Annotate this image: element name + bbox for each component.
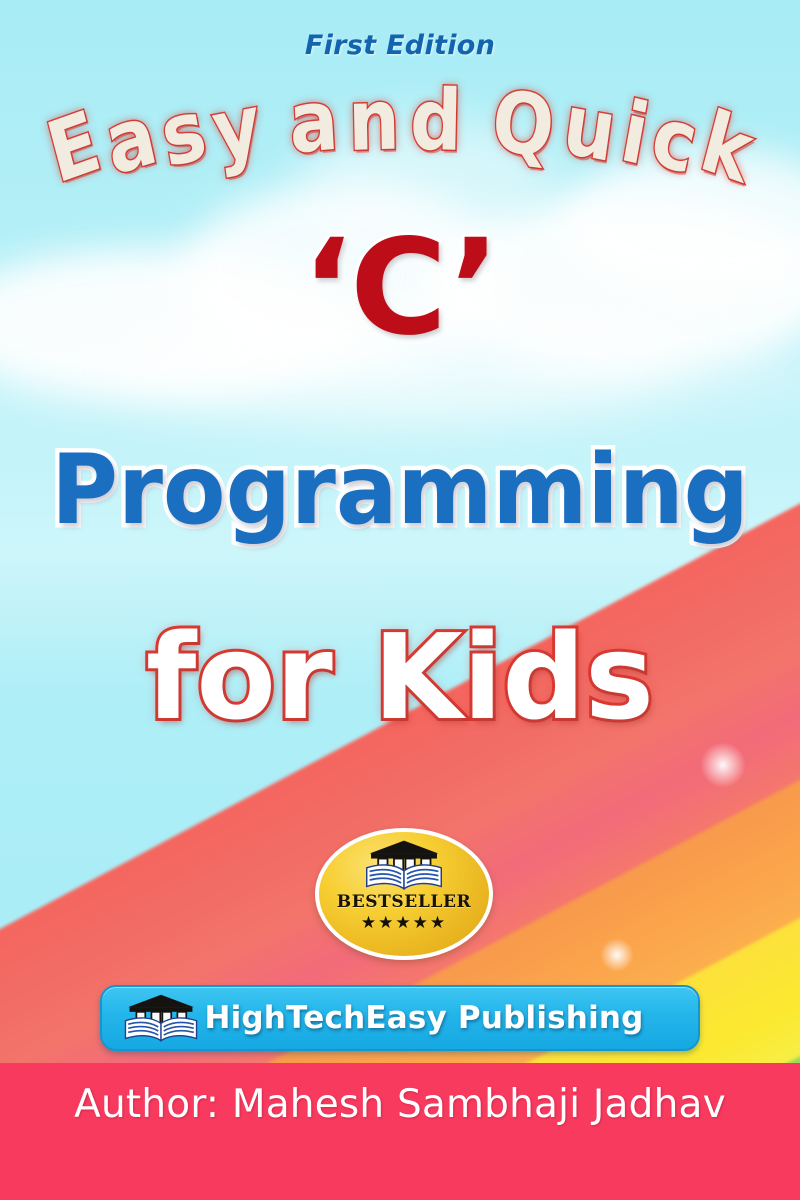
title-line-1-letter: a xyxy=(98,92,163,187)
badge-stars: ★★★★★ xyxy=(361,914,447,931)
badge-label: BESTSELLER xyxy=(337,892,471,912)
title-line-1-letter: Q xyxy=(489,78,558,170)
title-line-1-letter: d xyxy=(409,78,462,163)
title-line-1: Easy and Quick xyxy=(0,78,800,208)
book-cover: First Edition Easy and Quick ‘C’ Program… xyxy=(0,0,800,1200)
title-line-1-letter xyxy=(263,81,287,167)
title-line-1-text: Easy and Quick xyxy=(51,78,748,162)
title-line-1-letter xyxy=(467,79,487,164)
title-line-2: Programming xyxy=(20,440,780,541)
title-line-1-letter: k xyxy=(693,99,760,196)
sparkle-icon xyxy=(700,742,746,788)
title-line-1-letter: a xyxy=(287,78,341,166)
bestseller-badge: BESTSELLER ★★★★★ xyxy=(315,828,493,960)
temple-book-logo-icon xyxy=(120,992,202,1044)
temple-book-logo-icon xyxy=(361,839,447,891)
author-band: Author: Mahesh Sambhaji Jadhav xyxy=(0,1063,800,1200)
title-language: ‘C’ xyxy=(0,222,800,354)
sparkle-icon xyxy=(600,938,634,972)
title-line-3: for Kids xyxy=(8,616,792,740)
title-line-1-letter: n xyxy=(347,78,400,163)
title-line-1-letter: u xyxy=(559,82,621,174)
title-line-1-letter: s xyxy=(155,87,212,179)
publisher-banner[interactable]: HighTechEasy Publishing xyxy=(100,985,700,1051)
edition-label: First Edition xyxy=(0,30,800,61)
publisher-name: HighTechEasy Publishing xyxy=(202,1000,680,1036)
author-name: Author: Mahesh Sambhaji Jadhav xyxy=(0,1082,800,1127)
title-line-1-letter: E xyxy=(40,99,108,196)
title-line-1-letter: y xyxy=(208,82,266,174)
